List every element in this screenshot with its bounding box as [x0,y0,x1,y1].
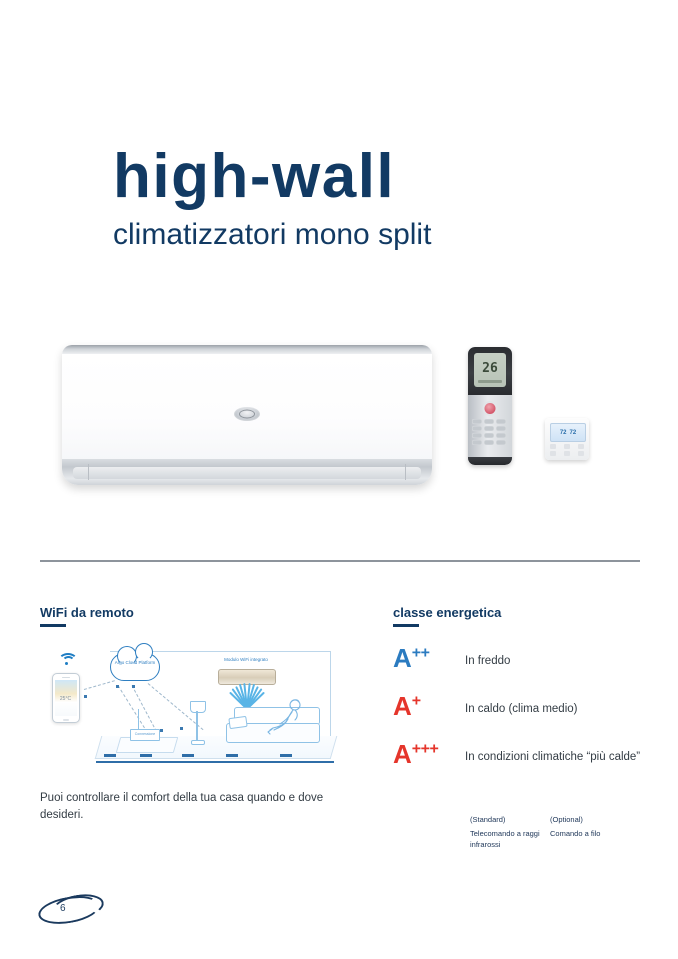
smartphone-temperature: 25°C [55,696,77,702]
energy-class-row: A++ In freddo [393,645,643,671]
energy-grade-heating-warm: A+++ [393,741,465,767]
wired-button-row-bottom [550,451,584,456]
page-number-badge: 6 [38,893,108,925]
energy-class-list: A++ In freddo A+ In caldo (clima medio) … [393,645,643,789]
ac-left-notch [88,464,89,480]
remote-lcd-indicator [478,380,502,383]
wifi-signal-icon [58,653,74,665]
router-antenna [138,709,139,731]
caption-standard-text: Telecomando a raggi infrarossi [470,829,540,849]
wired-controller-image: 72 72 [545,418,589,460]
energy-desc-heating-medium: In caldo (clima medio) [465,693,577,718]
air-conditioner-unit-image [62,345,432,485]
wired-key [550,451,556,456]
page-title: high-wall [113,146,633,208]
energy-grade-plus: +++ [412,740,439,757]
caption-optional-text: Comando a filo [550,829,600,838]
wifi-module-label: Modulo WiFi integrato [210,657,282,662]
remote-key [472,426,482,431]
page-title-block: high-wall climatizzatori mono split [113,146,633,251]
energy-grade-plus: ++ [412,644,430,661]
router-device: Connessione [130,729,160,741]
remote-key [484,440,494,445]
energy-grade-heating-medium: A+ [393,693,465,719]
remote-lcd-screen: 26 [474,353,506,387]
energy-grade-letter: A [393,691,412,721]
ac-air-louver [73,467,421,479]
energy-section-header: classe energetica [393,605,643,627]
floor-vent [280,754,292,757]
energy-grade-cooling: A++ [393,645,465,671]
caption-standard-remote: (Standard) Telecomando a raggi infraross… [470,815,542,851]
floor-vent [140,754,152,757]
ac-top-grille [62,345,432,354]
wired-key [564,444,570,449]
floor-lamp [190,701,204,745]
smartphone-app-screen: 25°C [55,680,77,716]
energy-desc-cooling: In freddo [465,645,510,670]
wifi-heading: WiFi da remoto [40,605,360,620]
person-on-sofa-icon [262,697,310,745]
remote-upper-shell: 26 [468,347,512,395]
wired-key [578,451,584,456]
caption-standard-kind: (Standard) [470,815,542,826]
energy-desc-heating-warm: In condizioni climatiche “più calde” [465,741,640,766]
energy-grade-plus: + [412,692,421,709]
remote-key [496,440,506,445]
floor-baseline [96,761,334,764]
wifi-section-header: WiFi da remoto [40,605,360,627]
remote-key [484,419,494,424]
remote-key [484,426,494,431]
wired-controller-screen: 72 72 [550,423,586,442]
wifi-illustration: 25°C Argo Cloud Platform Modulo WiFi int… [40,645,330,765]
cloud-label: Argo Cloud Platform [111,660,159,666]
wired-button-row-top [550,444,584,449]
caption-optional-controller: (Optional) Comando a filo [550,815,630,840]
remote-key [496,419,506,424]
brochure-page: high-wall climatizzatori mono split 26 [0,0,678,959]
floor-vent [182,754,194,757]
remote-power-button-icon [485,403,496,414]
smartphone-icon: 25°C [52,673,80,723]
energy-class-row: A+++ In condizioni climatiche “più calde… [393,741,643,767]
infrared-remote-image: 26 [468,347,512,465]
wired-value-left: 72 [560,430,567,436]
floor-vent [104,754,116,757]
remote-key [472,433,482,438]
wired-value-right: 72 [570,430,577,436]
wired-key [578,444,584,449]
brand-logo-icon [234,407,260,421]
section-divider [40,560,640,562]
energy-grade-letter: A [393,739,412,769]
wired-key [550,444,556,449]
ac-bottom-bezel [62,459,432,485]
remote-button-grid [472,419,508,445]
floor-vent [226,754,238,757]
remote-lower-shell [468,457,512,465]
energy-heading-rule [393,624,419,627]
ac-right-notch [405,464,406,480]
router-label: Connessione [131,732,159,736]
remote-key [472,419,482,424]
energy-grade-letter: A [393,643,412,673]
wifi-description: Puoi controllare il comfort della tua ca… [40,790,340,825]
wifi-heading-rule [40,624,66,627]
cloud-icon: Argo Cloud Platform [110,653,160,681]
remote-key [496,433,506,438]
remote-key [484,433,494,438]
remote-key [496,426,506,431]
page-number: 6 [60,903,66,914]
energy-class-row: A+ In caldo (clima medio) [393,693,643,719]
caption-optional-kind: (Optional) [550,815,630,826]
page-subtitle: climatizzatori mono split [113,218,633,251]
energy-heading: classe energetica [393,605,643,620]
wired-key [564,451,570,456]
remote-temperature-value: 26 [474,361,506,376]
remote-key [472,440,482,445]
